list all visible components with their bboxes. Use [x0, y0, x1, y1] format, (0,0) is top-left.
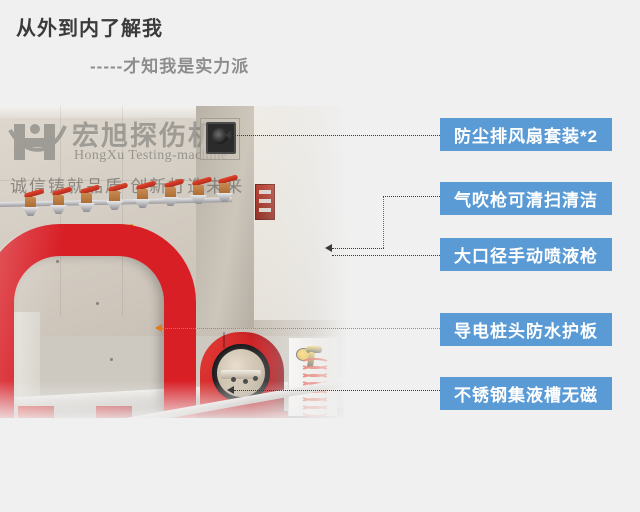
wall-electrical-box — [255, 184, 275, 220]
callout-arrow-4 — [155, 324, 162, 332]
spray-valve — [18, 190, 44, 216]
callout-leader-1 — [231, 135, 440, 136]
spray-valve — [186, 178, 212, 204]
callout-leader-4 — [162, 328, 440, 329]
callout-arrow-1 — [224, 131, 231, 139]
spray-valve — [158, 180, 184, 206]
spray-valve — [74, 186, 100, 212]
callout-leader-5 — [234, 390, 440, 391]
product-photo: 宏旭探伤机 HongXu Testing-machine 诚信铸就品质 创新打造… — [0, 106, 348, 418]
red-arch-frame — [0, 224, 196, 418]
page-title: 从外到内了解我 — [16, 12, 163, 41]
callout-arrow-5 — [227, 386, 234, 394]
spray-valve — [46, 188, 72, 214]
callout-badge-electrode-guard[interactable]: 导电桩头防水护板 — [440, 313, 612, 346]
callout-badge-large-spray-gun[interactable]: 大口径手动喷液枪 — [440, 238, 612, 271]
hongxu-h-monogram-logo-icon — [8, 116, 68, 168]
callout-arrow-2 — [325, 244, 332, 252]
red-arch-leg-right — [96, 406, 132, 418]
red-arch-leg-left — [18, 406, 54, 418]
spray-valve — [212, 176, 238, 202]
spray-valve — [130, 182, 156, 208]
callout-badge-stainless-tray[interactable]: 不锈钢集液槽无磁 — [440, 377, 612, 410]
coil-head-base — [196, 412, 288, 418]
callout-badge-air-blow-gun[interactable]: 气吹枪可清扫清洁 — [440, 182, 612, 215]
page-subtitle: -----才知我是实力派 — [90, 52, 249, 77]
exhaust-fan-unit-icon — [206, 122, 236, 154]
callout-leader-2-vertical — [383, 196, 384, 248]
callout-badge-dust-exhaust-fan[interactable]: 防尘排风扇套装*2 — [440, 118, 612, 151]
callout-leader-2 — [383, 196, 440, 197]
page-root: 从外到内了解我 -----才知我是实力派 宏旭探伤机 HongXu Testin… — [0, 0, 640, 512]
spray-valve — [102, 184, 128, 210]
callout-leader-3 — [332, 255, 440, 256]
callout-leader-2-stub — [332, 248, 384, 249]
